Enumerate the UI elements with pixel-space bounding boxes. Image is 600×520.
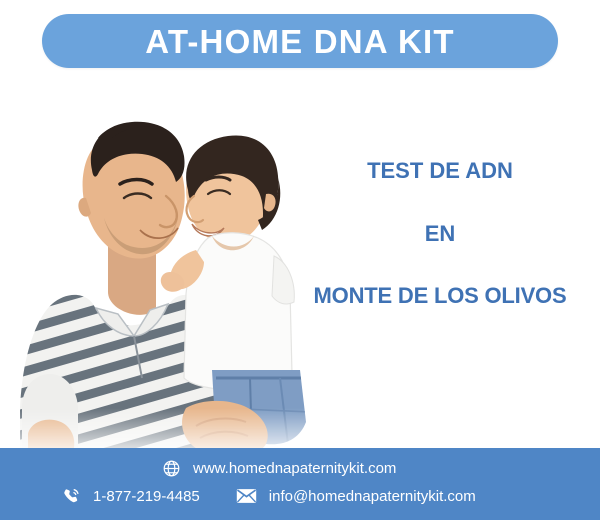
dna-kit-promo-banner: AT-HOME DNA KIT (0, 0, 600, 520)
footer-website-row: www.homednapaternitykit.com (160, 457, 396, 479)
phone-item[interactable]: 1-877-219-4485 (60, 485, 200, 507)
phone-text: 1-877-219-4485 (93, 488, 200, 505)
headline-line-1: TEST DE ADN (290, 158, 590, 183)
headline-line-2: EN (290, 221, 590, 246)
father-and-child-photo (0, 78, 330, 460)
website-text: www.homednapaternitykit.com (193, 460, 396, 477)
header-pill: AT-HOME DNA KIT (42, 14, 558, 68)
envelope-icon (236, 485, 258, 507)
footer-contact-row: 1-877-219-4485 info@homednapaternitykit.… (60, 485, 476, 507)
email-text: info@homednapaternitykit.com (269, 488, 476, 505)
phone-icon (60, 485, 82, 507)
contact-footer: www.homednapaternitykit.com 1-877-219-44… (0, 448, 600, 520)
email-item[interactable]: info@homednapaternitykit.com (236, 485, 476, 507)
globe-icon (160, 457, 182, 479)
headline-block: TEST DE ADN EN MONTE DE LOS OLIVOS (290, 158, 590, 308)
father-and-child-illustration (0, 78, 330, 460)
headline-line-3: MONTE DE LOS OLIVOS (290, 283, 590, 308)
website-item[interactable]: www.homednapaternitykit.com (160, 457, 396, 479)
page-title: AT-HOME DNA KIT (145, 25, 454, 58)
